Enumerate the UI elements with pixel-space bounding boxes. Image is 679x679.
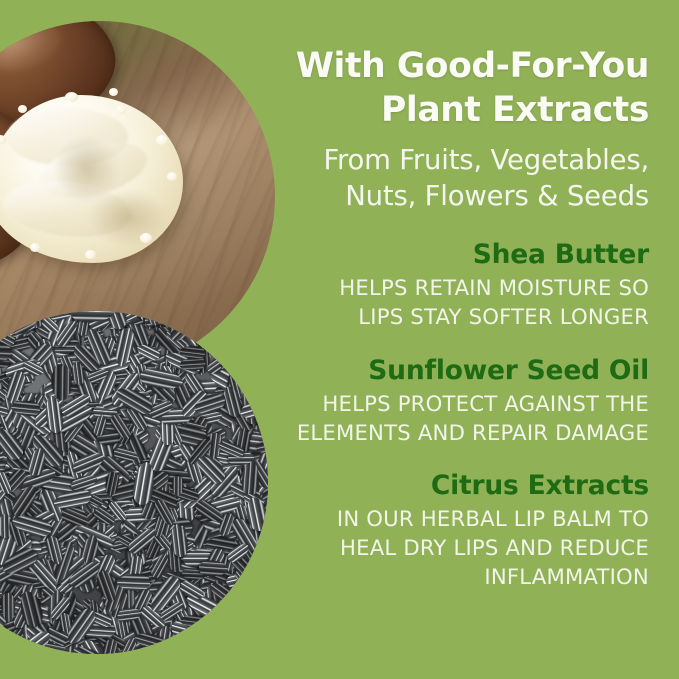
subheadline-line-1: From Fruits, Vegetables,: [268, 142, 649, 178]
text-column: With Good-For-You Plant Extracts From Fr…: [268, 0, 649, 679]
sunflower-seeds-photo: [0, 311, 268, 654]
headline-line-2: Plant Extracts: [268, 88, 649, 132]
ingredient-desc-line-3: INFLAMMATION: [268, 562, 649, 591]
subheadline-line-2: Nuts, Flowers & Seeds: [268, 178, 649, 214]
ingredient-name: Citrus Extracts: [268, 470, 649, 502]
ingredient-name: Sunflower Seed Oil: [268, 355, 649, 387]
nut-highlight: [0, 21, 67, 80]
ingredient-desc-line-1: HELPS RETAIN MOISTURE SO: [268, 273, 649, 302]
headline-line-1: With Good-For-You: [268, 44, 649, 88]
ingredient-description: HELPS PROTECT AGAINST THE ELEMENTS AND R…: [268, 389, 649, 447]
page-title: With Good-For-You Plant Extracts: [268, 44, 649, 132]
ingredient-description: IN OUR HERBAL LIP BALM TO HEAL DRY LIPS …: [268, 504, 649, 591]
ingredient-block-citrus-extracts: Citrus Extracts IN OUR HERBAL LIP BALM T…: [268, 470, 649, 591]
ingredient-description: HELPS RETAIN MOISTURE SO LIPS STAY SOFTE…: [268, 273, 649, 331]
infographic-canvas: With Good-For-You Plant Extracts From Fr…: [0, 0, 679, 679]
page-subtitle: From Fruits, Vegetables, Nuts, Flowers &…: [268, 142, 649, 214]
ingredient-desc-line-1: HELPS PROTECT AGAINST THE: [268, 389, 649, 418]
ingredient-block-sunflower-seed-oil: Sunflower Seed Oil HELPS PROTECT AGAINST…: [268, 355, 649, 447]
ingredient-desc-line-1: IN OUR HERBAL LIP BALM TO: [268, 504, 649, 533]
ingredient-desc-line-2: ELEMENTS AND REPAIR DAMAGE: [268, 418, 649, 447]
ingredient-desc-line-2: HEAL DRY LIPS AND REDUCE: [268, 533, 649, 562]
ingredient-block-shea-butter: Shea Butter HELPS RETAIN MOISTURE SO LIP…: [268, 239, 649, 331]
ingredient-name: Shea Butter: [268, 239, 649, 271]
ingredient-desc-line-2: LIPS STAY SOFTER LONGER: [268, 302, 649, 331]
